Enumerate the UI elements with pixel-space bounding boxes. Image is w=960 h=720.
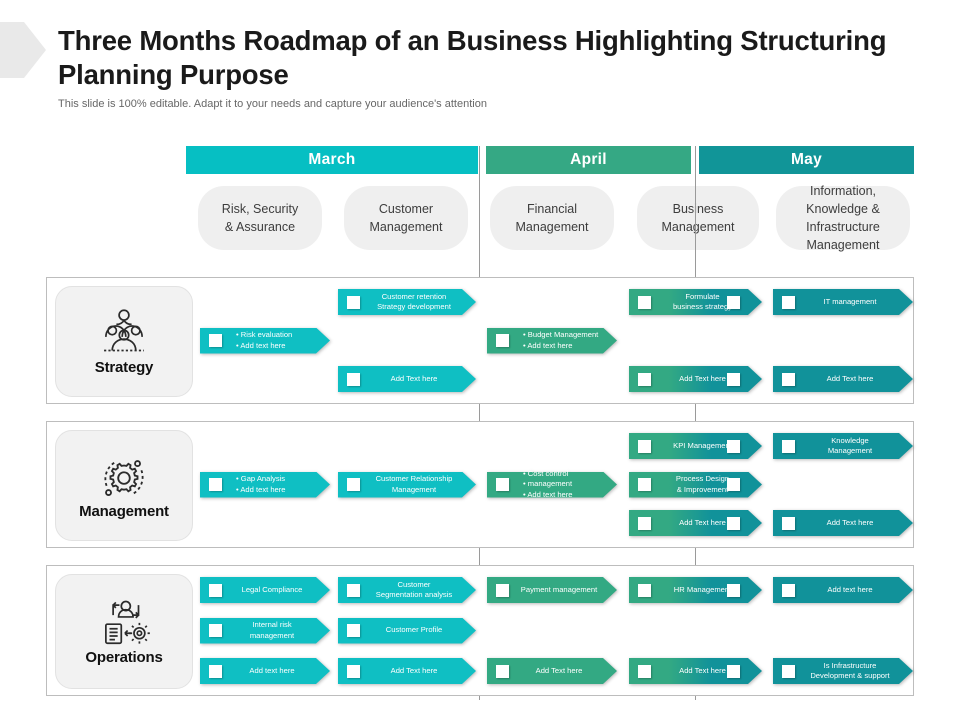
- milestone-arrow[interactable]: Add text here: [773, 577, 913, 603]
- milestone-arrow[interactable]: Knowledge Management: [773, 433, 913, 459]
- arrow-marker-square: [782, 373, 795, 386]
- milestone-label: Add Text here: [795, 518, 913, 528]
- milestone-label: KPI Management: [651, 441, 762, 451]
- milestone-arrow[interactable]: Add Text here: [629, 366, 762, 392]
- arrow-marker-square: [347, 373, 360, 386]
- milestone-arrow[interactable]: Customer retention Strategy development: [338, 289, 476, 315]
- arrow-marker-square: [727, 373, 740, 386]
- category-pill-3[interactable]: Financial Management: [490, 186, 614, 250]
- row-category-label: Operations: [85, 649, 162, 666]
- arrow-marker-square: [209, 584, 222, 597]
- arrow-marker-square: [638, 517, 651, 530]
- milestone-arrow[interactable]: Cost controlmanagementAdd text here: [487, 472, 617, 498]
- arrow-marker-square: [782, 665, 795, 678]
- milestone-label: Knowledge Management: [795, 436, 913, 457]
- arrow-marker-square: [782, 584, 795, 597]
- arrow-marker-square: [209, 665, 222, 678]
- milestone-label: Add Text here: [795, 374, 913, 384]
- milestone-arrow[interactable]: Customer Segmentation analysis: [338, 577, 476, 603]
- milestone-arrow[interactable]: Budget ManagementAdd text here: [487, 328, 617, 354]
- arrow-marker-square: [209, 334, 222, 347]
- arrow-marker-square: [782, 296, 795, 309]
- milestone-label: Payment management: [509, 585, 617, 595]
- arrow-marker-square: [209, 478, 222, 491]
- row-category-operations[interactable]: Operations: [55, 574, 193, 689]
- arrow-marker-square: [638, 440, 651, 453]
- milestone-label: Customer Relationship Management: [360, 474, 476, 495]
- milestone-label: Add Text here: [360, 666, 476, 676]
- milestone-label: Add text here: [222, 666, 330, 676]
- arrow-marker-square: [727, 296, 740, 309]
- category-pill-label: Customer Management: [370, 200, 443, 236]
- arrow-marker-square: [347, 584, 360, 597]
- arrow-marker-square: [727, 478, 740, 491]
- arrow-marker-square: [347, 665, 360, 678]
- milestone-arrow[interactable]: Payment management: [487, 577, 617, 603]
- milestone-arrow[interactable]: Add Text here: [338, 658, 476, 684]
- category-pill-2[interactable]: Customer Management: [344, 186, 468, 250]
- arrow-marker-square: [347, 296, 360, 309]
- milestone-label: Add Text here: [651, 374, 762, 384]
- page-title: Three Months Roadmap of an Business High…: [58, 24, 928, 91]
- arrow-marker-square: [638, 373, 651, 386]
- process-worker-icon: [95, 597, 153, 645]
- milestone-arrow[interactable]: Legal Compliance: [200, 577, 330, 603]
- month-header-may[interactable]: May: [699, 146, 914, 174]
- row-category-label: Management: [79, 503, 169, 520]
- arrow-marker-square: [638, 478, 651, 491]
- milestone-label: Internal risk management: [222, 620, 330, 641]
- arrow-marker-square: [209, 624, 222, 637]
- month-header-april[interactable]: April: [486, 146, 691, 174]
- category-pill-label: Financial Management: [516, 200, 589, 236]
- row-category-strategy[interactable]: Strategy: [55, 286, 193, 397]
- category-pill-1[interactable]: Risk, Security & Assurance: [198, 186, 322, 250]
- milestone-arrow[interactable]: Is Infrastructure Development & support: [773, 658, 913, 684]
- corner-accent-icon: [0, 22, 46, 78]
- arrow-marker-square: [347, 624, 360, 637]
- arrow-marker-square: [727, 517, 740, 530]
- category-pill-label: Information, Knowledge & Infrastructure …: [806, 182, 880, 255]
- milestone-arrow[interactable]: IT management: [773, 289, 913, 315]
- category-pill-label: Business Management: [662, 200, 735, 236]
- arrow-marker-square: [347, 478, 360, 491]
- milestone-label: Customer retention Strategy development: [360, 292, 476, 313]
- milestone-arrow[interactable]: Process Design & Improvement: [629, 472, 762, 498]
- milestone-arrow[interactable]: HR Management: [629, 577, 762, 603]
- arrow-marker-square: [727, 440, 740, 453]
- milestone-arrow[interactable]: Customer Relationship Management: [338, 472, 476, 498]
- arrow-marker-square: [496, 334, 509, 347]
- row-category-management[interactable]: Management: [55, 430, 193, 541]
- month-header-march[interactable]: March: [186, 146, 478, 174]
- milestone-arrow[interactable]: Add Text here: [487, 658, 617, 684]
- arrow-marker-square: [638, 665, 651, 678]
- milestone-arrow[interactable]: Add text here: [200, 658, 330, 684]
- milestone-label: Add Text here: [651, 518, 762, 528]
- arrow-marker-square: [638, 584, 651, 597]
- arrow-marker-square: [496, 478, 509, 491]
- milestone-label: Is Infrastructure Development & support: [795, 661, 913, 682]
- people-group-icon: [95, 307, 153, 355]
- arrow-marker-square: [638, 296, 651, 309]
- milestone-arrow[interactable]: Add Text here: [338, 366, 476, 392]
- row-category-label: Strategy: [95, 359, 153, 376]
- milestone-label: Customer Segmentation analysis: [360, 580, 476, 601]
- arrow-marker-square: [727, 584, 740, 597]
- milestone-label: Process Design & Improvement: [651, 474, 762, 495]
- month-band: MarchAprilMay: [0, 146, 960, 174]
- category-pill-label: Risk, Security & Assurance: [222, 200, 298, 236]
- milestone-arrow[interactable]: Add Text here: [773, 510, 913, 536]
- milestone-label: Add Text here: [509, 666, 617, 676]
- milestone-label: Add Text here: [360, 374, 476, 384]
- category-pill-4[interactable]: Business Management: [637, 186, 759, 250]
- milestone-arrow[interactable]: Formulate business strategy: [629, 289, 762, 315]
- milestone-label: HR Management: [651, 585, 762, 595]
- page-subtitle: This slide is 100% editable. Adapt it to…: [58, 98, 858, 110]
- milestone-arrow[interactable]: Internal risk management: [200, 618, 330, 644]
- gear-settings-icon: [95, 451, 153, 499]
- arrow-marker-square: [496, 584, 509, 597]
- milestone-label: Legal Compliance: [222, 585, 330, 595]
- milestone-label: Add text here: [795, 585, 913, 595]
- milestone-label: Add Text here: [651, 666, 762, 676]
- milestone-arrow[interactable]: Add Text here: [629, 658, 762, 684]
- arrow-marker-square: [782, 440, 795, 453]
- category-pill-5[interactable]: Information, Knowledge & Infrastructure …: [776, 186, 910, 250]
- arrow-marker-square: [496, 665, 509, 678]
- milestone-label: Risk evaluationAdd text here: [222, 330, 330, 351]
- milestone-arrow[interactable]: Gap AnalysisAdd text here: [200, 472, 330, 498]
- milestone-arrow[interactable]: Add Text here: [629, 510, 762, 536]
- arrow-marker-square: [782, 517, 795, 530]
- milestone-arrow[interactable]: Risk evaluationAdd text here: [200, 328, 330, 354]
- arrow-marker-square: [727, 665, 740, 678]
- milestone-label: Formulate business strategy: [651, 292, 762, 313]
- milestone-label: Customer Profile: [360, 625, 476, 635]
- milestone-arrow[interactable]: Customer Profile: [338, 618, 476, 644]
- milestone-label: Budget ManagementAdd text here: [509, 330, 617, 351]
- milestone-arrow[interactable]: KPI Management: [629, 433, 762, 459]
- milestone-label: Gap AnalysisAdd text here: [222, 474, 330, 495]
- milestone-label: IT management: [795, 297, 913, 307]
- milestone-label: Cost controlmanagementAdd text here: [509, 469, 617, 500]
- milestone-arrow[interactable]: Add Text here: [773, 366, 913, 392]
